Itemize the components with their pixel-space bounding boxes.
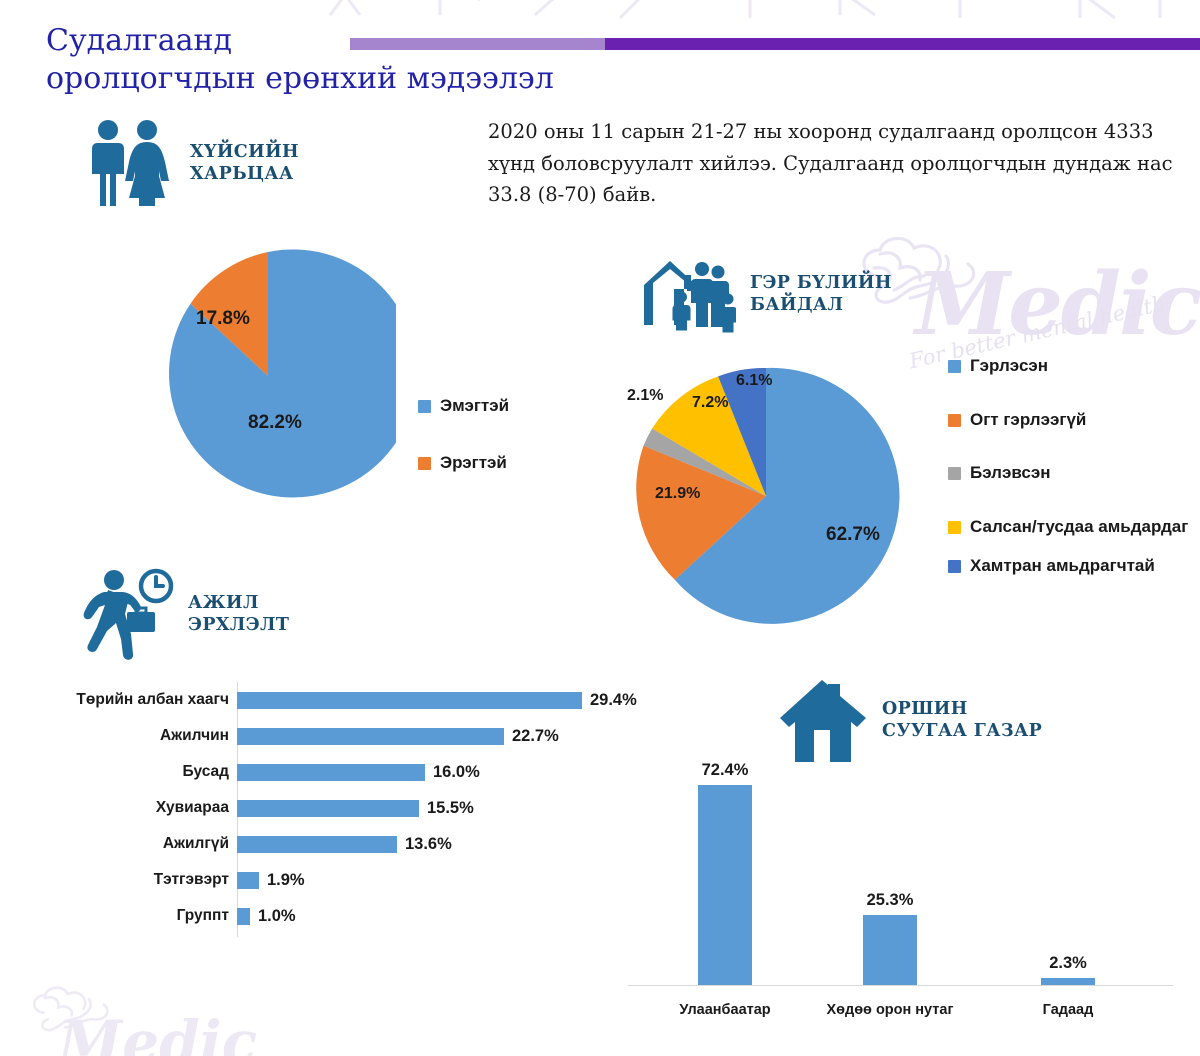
section-heading-employment: АЖИЛ ЭРХЛЭЛТ (78, 568, 289, 660)
section-label-gender: ХҮЙСИЙН ХАРЬЦАА (190, 141, 299, 186)
table-row: Группт 1.0% (20, 898, 660, 934)
section-label-residence: ОРШИН СУУГАА ГАЗАР (882, 698, 1042, 743)
legend-item-ogt-gerleegui: Огт гэрлээгүй (948, 410, 1188, 431)
gender-pie-legend: Эмэгтэй Эрэгтэй (418, 396, 509, 473)
hbar-category-label: Группт (20, 907, 237, 925)
residence-bar-chart: 72.4% Улаанбаатар 25.3% Хөдөө орон нутаг… (620, 740, 1180, 1030)
hbar-bar (237, 800, 419, 817)
page-title: Судалгаанд оролцогчдын ерөнхий мэдээлэл (46, 22, 554, 99)
legend-label: Огт гэрлээгүй (970, 410, 1086, 431)
vbar-bar (698, 785, 752, 985)
hbar-bar (237, 692, 582, 709)
vbar-category-label: Улаанбаатар (630, 1002, 820, 1018)
hbar-value-label: 1.9% (267, 871, 305, 890)
legend-item-belevsen: Бэлэвсэн (948, 463, 1188, 484)
infographic-page: Medic For better mental health Medic Суд… (0, 0, 1200, 1056)
vbar-category-label: Гадаад (973, 1002, 1163, 1018)
gender-pie-value-emegtei: 82.2% (248, 412, 302, 434)
hbar-value-label: 13.6% (405, 835, 452, 854)
legend-swatch-icon (948, 521, 961, 534)
vbar-bar (863, 915, 917, 985)
family-pie-value-khamtran: 6.1% (736, 372, 772, 390)
legend-item-emegtei: Эмэгтэй (418, 396, 509, 417)
vbar-column-gadaad: 2.3% (988, 954, 1148, 985)
family-pie-value-gerlesen: 62.7% (826, 524, 880, 546)
hbar-value-label: 22.7% (512, 727, 559, 746)
legend-item-gerlesen: Гэрлэсэн (948, 356, 1188, 377)
family-house-icon (640, 255, 736, 333)
gender-pie-chart (140, 248, 396, 504)
hbar-bar (237, 872, 259, 889)
man-woman-icon (84, 118, 176, 208)
vbar-value-label: 72.4% (645, 761, 805, 780)
vbar-bar (1041, 978, 1095, 985)
family-pie-value-ogt-gerleegui: 21.9% (655, 485, 700, 503)
gender-pie-value-eregtei: 17.8% (196, 308, 250, 330)
businessman-clock-icon (78, 568, 174, 660)
hbar-category-label: Төрийн албан хаагч (20, 691, 237, 709)
brain-swirl-icon (20, 978, 130, 1056)
pie-slice-emegtei (169, 249, 396, 497)
hbar-value-label: 1.0% (258, 907, 296, 926)
section-label-employment: АЖИЛ ЭРХЛЭЛТ (188, 592, 289, 637)
watermark-medic-bottom: Medic (10, 990, 270, 1056)
legend-label: Бэлэвсэн (970, 463, 1051, 484)
legend-item-eregtei: Эрэгтэй (418, 453, 509, 474)
section-heading-family: ГЭР БҮЛИЙН БАЙДАЛ (640, 255, 892, 333)
hbar-category-label: Ажилгүй (20, 835, 237, 853)
table-row: Хувиараа 15.5% (20, 790, 660, 826)
vbar-value-label: 25.3% (810, 891, 970, 910)
legend-item-khamtran: Хамтран амьдрагчтай (948, 556, 1188, 577)
legend-swatch-icon (418, 400, 431, 413)
legend-swatch-icon (418, 457, 431, 470)
vbar-category-label: Хөдөө орон нутаг (795, 1002, 985, 1018)
table-row: Төрийн албан хаагч 29.4% (20, 682, 660, 718)
hbar-bar (237, 836, 397, 853)
vbar-column-ulaanbaatar: 72.4% (645, 761, 805, 985)
watermark-word: Medic (58, 1008, 257, 1056)
legend-swatch-icon (948, 414, 961, 427)
table-row: Ажилгүй 13.6% (20, 826, 660, 862)
header-accent-bar-light (350, 38, 605, 50)
page-title-line2: оролцогчдын ерөнхий мэдээлэл (46, 61, 554, 96)
legend-label: Гэрлэсэн (970, 356, 1048, 377)
employment-bar-chart: Төрийн албан хаагч 29.4% Ажилчин 22.7% Б… (20, 682, 660, 942)
section-heading-gender: ХҮЙСИЙН ХАРЬЦАА (84, 118, 299, 208)
legend-swatch-icon (948, 360, 961, 373)
legend-swatch-icon (948, 467, 961, 480)
hbar-category-label: Ажилчин (20, 727, 237, 745)
hbar-category-label: Тэтгэвэрт (20, 871, 237, 889)
hbar-bar (237, 728, 504, 745)
hbar-category-label: Бусад (20, 763, 237, 781)
table-row: Тэтгэвэрт 1.9% (20, 862, 660, 898)
hbar-value-label: 15.5% (427, 799, 474, 818)
hbar-value-label: 16.0% (433, 763, 480, 782)
vbar-axis-line (628, 985, 1173, 986)
header-accent-bar-dark (605, 38, 1200, 50)
page-title-line1: Судалгаанд (46, 23, 232, 58)
table-row: Ажилчин 22.7% (20, 718, 660, 754)
vbar-value-label: 2.3% (988, 954, 1148, 973)
legend-label: Салсан/тусдаа амьдардаг (970, 517, 1188, 538)
legend-label: Хамтран амьдрагчтай (970, 556, 1155, 577)
family-pie-legend: Гэрлэсэн Огт гэрлээгүй Бэлэвсэн Салсан/т… (948, 356, 1188, 577)
hbar-bar (237, 764, 425, 781)
section-label-family: ГЭР БҮЛИЙН БАЙДАЛ (750, 272, 892, 317)
legend-swatch-icon (948, 560, 961, 573)
hbar-value-label: 29.4% (590, 691, 637, 710)
family-pie-value-belevsen: 2.1% (627, 387, 663, 405)
legend-label: Эмэгтэй (440, 396, 509, 417)
hbar-category-label: Хувиараа (20, 799, 237, 817)
legend-item-salsan: Салсан/тусдаа амьдардаг (948, 517, 1188, 538)
watermark-word: Medic (915, 254, 1200, 355)
intro-paragraph: 2020 оны 11 сарын 21-27 ны хооронд судал… (488, 116, 1188, 211)
family-pie-value-salsan: 7.2% (692, 394, 728, 412)
legend-label: Эрэгтэй (440, 453, 507, 474)
table-row: Бусад 16.0% (20, 754, 660, 790)
vbar-column-khodoo: 25.3% (810, 891, 970, 985)
hbar-bar (237, 908, 250, 925)
